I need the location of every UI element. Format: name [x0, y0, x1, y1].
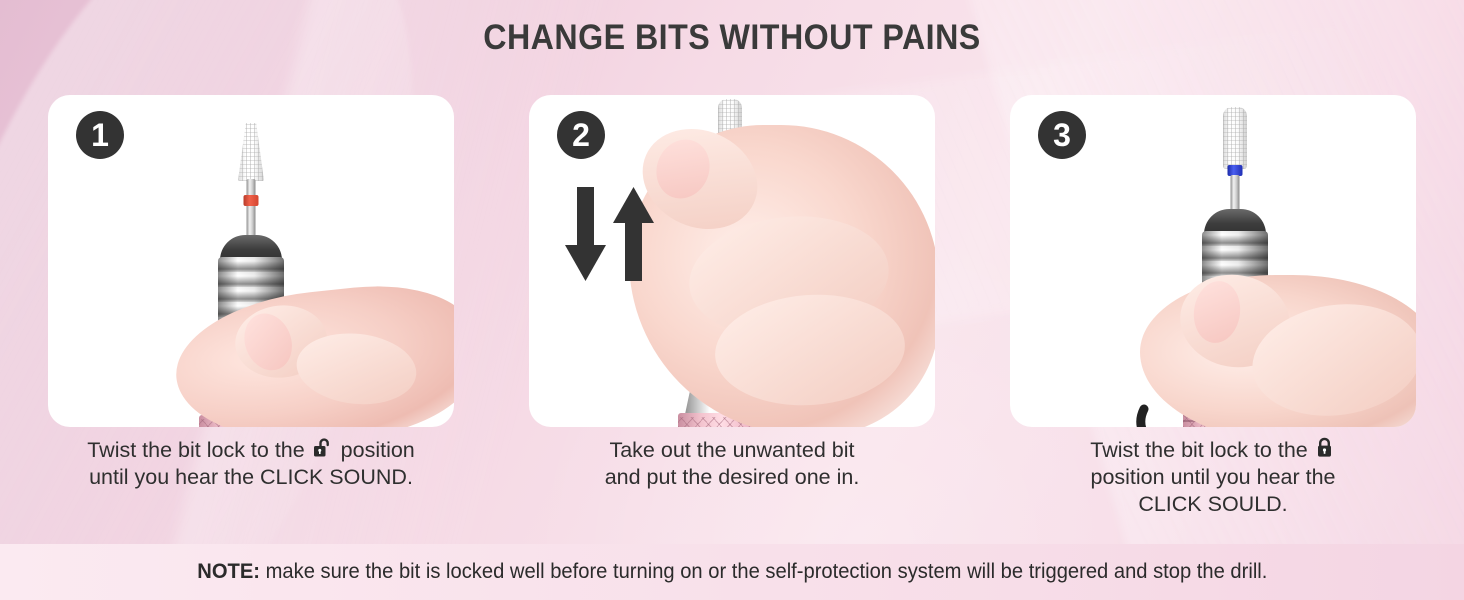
bit-shank	[726, 165, 735, 243]
grip-knurl-texture	[678, 417, 782, 427]
note-label: NOTE:	[197, 560, 260, 583]
step-badge-2: 2	[557, 111, 605, 159]
nail-drill-illustration-1	[168, 117, 334, 427]
rotate-right-arrow-icon	[1118, 385, 1348, 427]
lock-icon	[1316, 437, 1334, 459]
step-badge-1: 1	[76, 111, 124, 159]
caption-line: Twist the bit lock to the	[1010, 437, 1416, 464]
drill-taper	[205, 341, 297, 419]
drill-ribbed-barrel	[218, 257, 284, 345]
unlock-icon	[313, 437, 333, 459]
bit-texture	[1223, 107, 1247, 169]
caption-text: position	[335, 438, 415, 462]
caption-line: position until you hear the	[1010, 464, 1416, 491]
step-caption-2: Take out the unwanted bit and put the de…	[529, 437, 935, 518]
infographic-root: CHANGE BITS WITHOUT PAINS 1	[0, 0, 1464, 600]
ceramic-bit-cone	[238, 123, 264, 181]
rotate-left-arrow-icon	[144, 417, 364, 427]
nail-drill-illustration-3	[1152, 105, 1318, 427]
step-caption-1: Twist the bit lock to the position until…	[48, 437, 454, 518]
caption-line: CLICK SOULD.	[1010, 491, 1416, 518]
drill-taper	[684, 341, 776, 419]
caption-line: until you hear the CLICK SOUND.	[48, 464, 454, 491]
note-bar: NOTE: make sure the bit is locked well b…	[0, 544, 1464, 600]
step-card-2: 2	[529, 95, 935, 427]
caption-text: Twist the bit lock to the	[87, 438, 310, 462]
bit-shank	[1231, 175, 1240, 213]
caption-line: Twist the bit lock to the position	[48, 437, 454, 464]
step-badge-3: 3	[1038, 111, 1086, 159]
note-body: make sure the bit is locked well before …	[260, 560, 1267, 583]
bit-texture	[718, 99, 742, 161]
bit-texture	[238, 123, 264, 181]
ceramic-bit-barrel	[718, 99, 742, 161]
bit-lock-grip	[678, 413, 782, 427]
step-card-3: 3	[1010, 95, 1416, 427]
bit-band-red	[244, 195, 259, 206]
bit-shank	[247, 179, 256, 239]
steps-row: 1	[48, 95, 1416, 427]
step-caption-3: Twist the bit lock to the position until…	[1010, 437, 1416, 518]
ceramic-bit-barrel	[1223, 107, 1247, 169]
page-title: CHANGE BITS WITHOUT PAINS	[59, 18, 1406, 58]
drill-ribbed-barrel	[697, 257, 763, 345]
nail-drill-illustration-2	[647, 95, 813, 427]
caption-line: Take out the unwanted bit	[529, 437, 935, 464]
step-card-1: 1	[48, 95, 454, 427]
caption-text: Twist the bit lock to the	[1090, 438, 1313, 462]
caption-line: and put the desired one in.	[529, 464, 935, 491]
note-text: NOTE: make sure the bit is locked well b…	[197, 560, 1267, 584]
drill-ribbed-barrel	[1202, 231, 1268, 319]
captions-row: Twist the bit lock to the position until…	[48, 437, 1416, 518]
drill-taper	[1189, 315, 1281, 393]
up-down-arrows-icon	[557, 187, 667, 283]
